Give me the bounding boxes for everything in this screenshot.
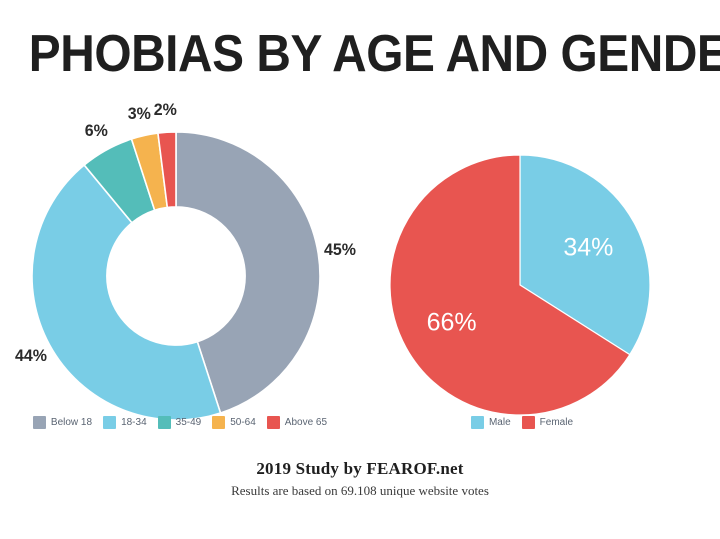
legend-swatch-icon bbox=[212, 416, 225, 429]
page-title: PHOBIAS BY AGE AND GENDER bbox=[29, 26, 691, 82]
legend-item-male[interactable]: Male bbox=[471, 416, 511, 429]
slice-label-50-64: 3% bbox=[128, 104, 151, 124]
slice-label-below-18: 45% bbox=[324, 240, 356, 260]
slice-label-above-65: 2% bbox=[154, 100, 177, 120]
footer-note: Results are based on 69.108 unique websi… bbox=[0, 483, 720, 499]
pie-chart-gender: 34%66% bbox=[372, 104, 672, 404]
chart-panel-age: 45%44%6%3%2% Below 1818-3435-4950-64Abov… bbox=[10, 104, 350, 404]
legend-label: 35-49 bbox=[176, 417, 202, 428]
legend-label: Female bbox=[540, 417, 573, 428]
slice-label-male: 34% bbox=[563, 233, 613, 261]
legend-swatch-icon bbox=[33, 416, 46, 429]
slice-label-18-34: 44% bbox=[15, 346, 47, 366]
footer-source: 2019 Study by FEAROF.net bbox=[0, 459, 720, 479]
legend-item-18-34[interactable]: 18-34 bbox=[103, 416, 147, 429]
legend-swatch-icon bbox=[522, 416, 535, 429]
legend-label: Male bbox=[489, 417, 511, 428]
legend-label: Below 18 bbox=[51, 417, 92, 428]
legend-age: Below 1818-3435-4950-64Above 65 bbox=[10, 416, 350, 429]
legend-swatch-icon bbox=[103, 416, 116, 429]
legend-gender: MaleFemale bbox=[372, 416, 672, 429]
legend-swatch-icon bbox=[158, 416, 171, 429]
donut-chart-age: 45%44%6%3%2% bbox=[10, 104, 350, 404]
legend-item-35-49[interactable]: 35-49 bbox=[158, 416, 202, 429]
legend-item-female[interactable]: Female bbox=[522, 416, 573, 429]
legend-item-below-18[interactable]: Below 18 bbox=[33, 416, 92, 429]
chart-panel-gender: 34%66% MaleFemale bbox=[372, 104, 672, 404]
legend-swatch-icon bbox=[267, 416, 280, 429]
legend-swatch-icon bbox=[471, 416, 484, 429]
legend-item-50-64[interactable]: 50-64 bbox=[212, 416, 256, 429]
legend-label: Above 65 bbox=[285, 417, 327, 428]
legend-label: 50-64 bbox=[230, 417, 256, 428]
slice-label-35-49: 6% bbox=[84, 121, 107, 141]
slice-label-female: 66% bbox=[427, 309, 477, 337]
legend-item-above-65[interactable]: Above 65 bbox=[267, 416, 327, 429]
donut-chart-age-svg bbox=[10, 104, 350, 404]
legend-label: 18-34 bbox=[121, 417, 147, 428]
pie-chart-gender-svg: 34%66% bbox=[372, 104, 672, 404]
